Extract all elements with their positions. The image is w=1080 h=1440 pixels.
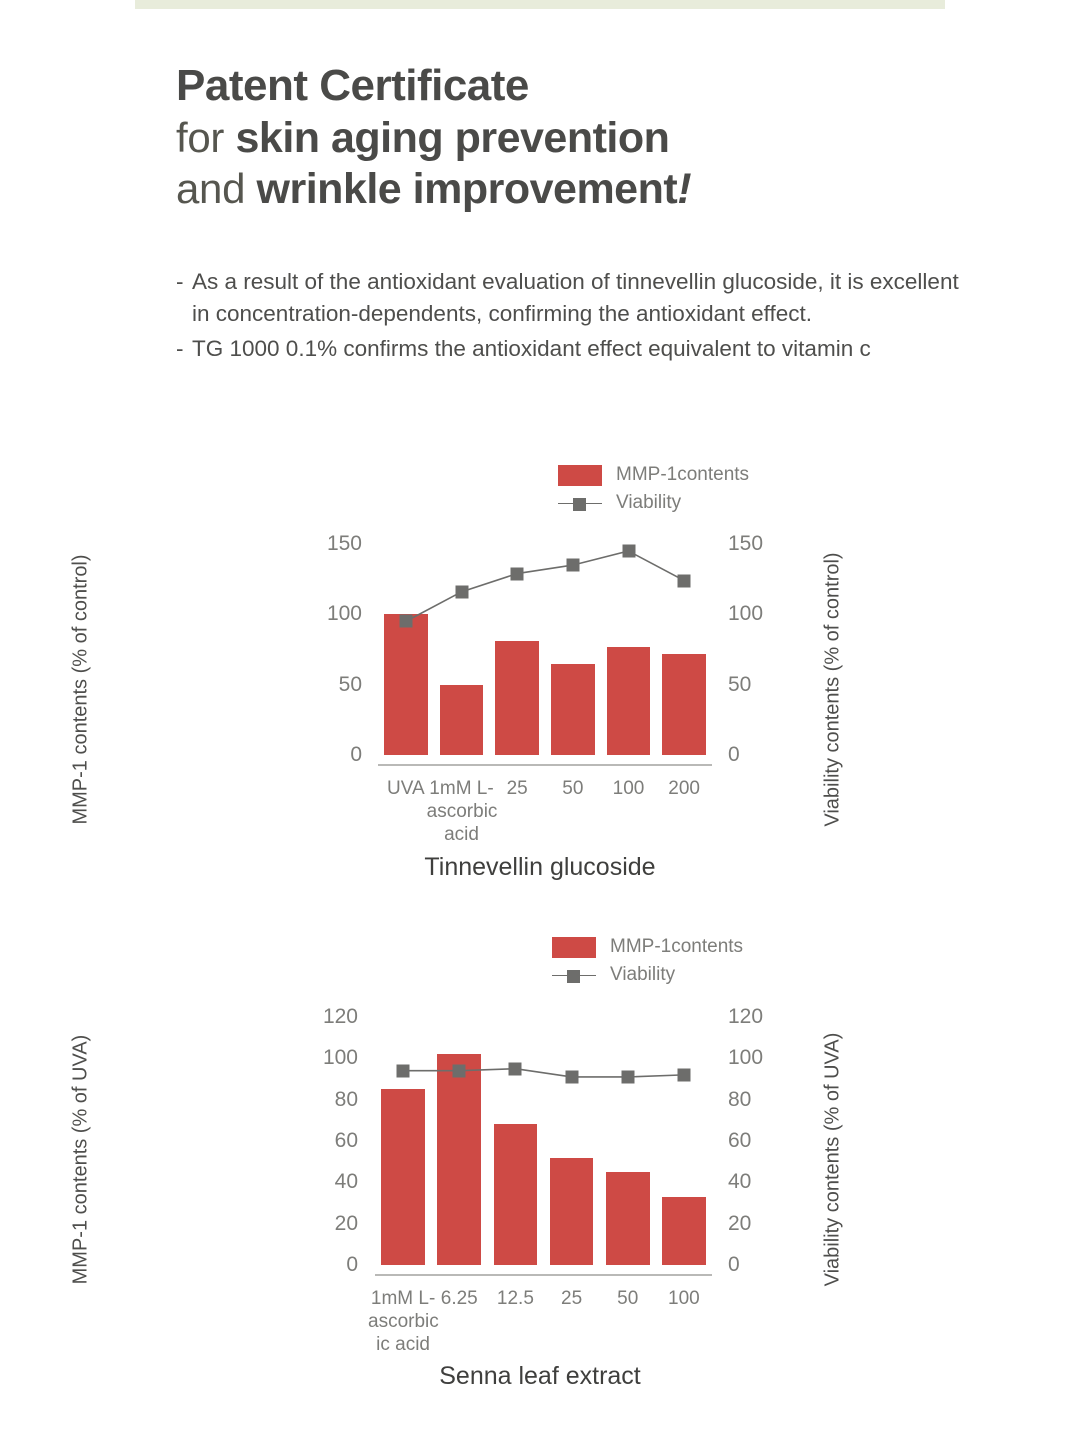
bar-0 — [381, 1089, 425, 1265]
bar-2 — [495, 641, 538, 755]
bullet-dash: - — [176, 266, 192, 298]
y-axis-tick-left: 80 — [296, 1088, 358, 1112]
legend-bar-swatch-icon — [552, 937, 596, 958]
bar-3 — [551, 664, 594, 755]
legend-label: MMP-1contents — [616, 464, 749, 486]
y-axis-tick-right: 60 — [728, 1129, 790, 1153]
y-axis-tick-left: 0 — [300, 743, 362, 767]
y-axis-tick-right: 100 — [728, 602, 790, 626]
line-marker-0 — [399, 615, 412, 628]
headline-line-3-prefix: and — [176, 165, 257, 212]
legend-label: MMP-1contents — [610, 936, 743, 958]
y-axis-tick-left: 0 — [296, 1253, 358, 1277]
y-axis-tick-left: 100 — [296, 1046, 358, 1070]
list-item: - As a result of the antioxidant evaluat… — [176, 266, 966, 331]
y-axis-tick-right: 150 — [728, 532, 790, 556]
y-axis-title-right: Viability contents (% of UVA) — [822, 995, 845, 1325]
chart-legend: MMP-1contents Viability — [552, 936, 743, 986]
legend-line-marker-icon — [558, 493, 602, 514]
y-axis-tick-left: 40 — [296, 1170, 358, 1194]
bar-4 — [607, 647, 650, 755]
y-axis-tick-left: 120 — [296, 1005, 358, 1029]
legend-item-line: Viability — [558, 492, 749, 514]
legend-line-marker-icon — [552, 965, 596, 986]
bullet-text: TG 1000 0.1% confirms the antioxidant ef… — [192, 333, 966, 365]
y-axis-tick-left: 50 — [300, 673, 362, 697]
bar-4 — [606, 1172, 650, 1265]
line-marker-0 — [397, 1064, 410, 1077]
legend-item-line: Viability — [552, 964, 743, 986]
line-marker-5 — [677, 1068, 690, 1081]
x-axis-label-5: 100 — [649, 1288, 719, 1311]
legend-item-bar: MMP-1contents — [552, 936, 743, 958]
headline-line-2-prefix: for — [176, 114, 235, 161]
y-axis-tick-right: 80 — [728, 1088, 790, 1112]
y-axis-tick-right: 0 — [728, 743, 790, 767]
y-axis-tick-left: 60 — [296, 1129, 358, 1153]
y-axis-tick-right: 20 — [728, 1212, 790, 1236]
viability-line-series — [0, 0, 1080, 1440]
viability-line-series — [0, 0, 1080, 1440]
legend-item-bar: MMP-1contents — [558, 464, 749, 486]
bar-1 — [440, 685, 483, 755]
y-axis-title-right: Viability contents (% of control) — [822, 525, 845, 855]
bullet-text: As a result of the antioxidant evaluatio… — [192, 266, 966, 331]
list-item: - TG 1000 0.1% confirms the antioxidant … — [176, 333, 966, 365]
bar-1 — [437, 1054, 481, 1265]
legend-bar-swatch-icon — [558, 465, 602, 486]
line-marker-3 — [565, 1070, 578, 1083]
line-marker-4 — [621, 1070, 634, 1083]
x-axis-line — [378, 764, 712, 766]
bar-3 — [550, 1158, 594, 1265]
x-axis-label-5: 200 — [649, 778, 719, 801]
chart-caption: Senna leaf extract — [0, 1362, 1080, 1391]
y-axis-tick-right: 40 — [728, 1170, 790, 1194]
bar-5 — [662, 1197, 706, 1265]
y-axis-title-left: MMP-1 contents (% of control) — [70, 525, 93, 855]
y-axis-tick-right: 100 — [728, 1046, 790, 1070]
page-title: Patent Certificate for skin aging preven… — [176, 60, 976, 216]
bar-5 — [662, 654, 705, 755]
top-accent-band — [135, 0, 945, 9]
legend-label: Viability — [616, 492, 681, 514]
bar-0 — [384, 614, 427, 755]
y-axis-tick-right: 120 — [728, 1005, 790, 1029]
line-marker-3 — [566, 559, 579, 572]
chart-caption: Tinnevellin glucoside — [0, 853, 1080, 882]
y-axis-tick-right: 0 — [728, 1253, 790, 1277]
bullet-dash: - — [176, 333, 192, 365]
x-axis-line — [375, 1274, 712, 1276]
y-axis-tick-right: 50 — [728, 673, 790, 697]
headline-line-2-strong: skin aging prevention — [235, 114, 669, 162]
y-axis-title-left: MMP-1 contents (% of UVA) — [70, 995, 93, 1325]
y-axis-tick-left: 100 — [300, 602, 362, 626]
headline-exclamation: ! — [677, 165, 691, 213]
line-marker-5 — [678, 574, 691, 587]
page-root: Patent Certificate for skin aging preven… — [0, 0, 1080, 1440]
y-axis-tick-left: 20 — [296, 1212, 358, 1236]
headline-line-3-strong: wrinkle improvement — [257, 165, 678, 213]
headline-line-1: Patent Certificate — [176, 61, 529, 110]
line-marker-1 — [453, 1064, 466, 1077]
line-marker-2 — [509, 1062, 522, 1075]
line-marker-2 — [511, 567, 524, 580]
line-marker-1 — [455, 585, 468, 598]
bar-2 — [494, 1124, 538, 1265]
bullet-list: - As a result of the antioxidant evaluat… — [176, 266, 966, 367]
y-axis-tick-left: 150 — [300, 532, 362, 556]
line-marker-4 — [622, 545, 635, 558]
legend-label: Viability — [610, 964, 675, 986]
chart-legend: MMP-1contents Viability — [558, 464, 749, 514]
